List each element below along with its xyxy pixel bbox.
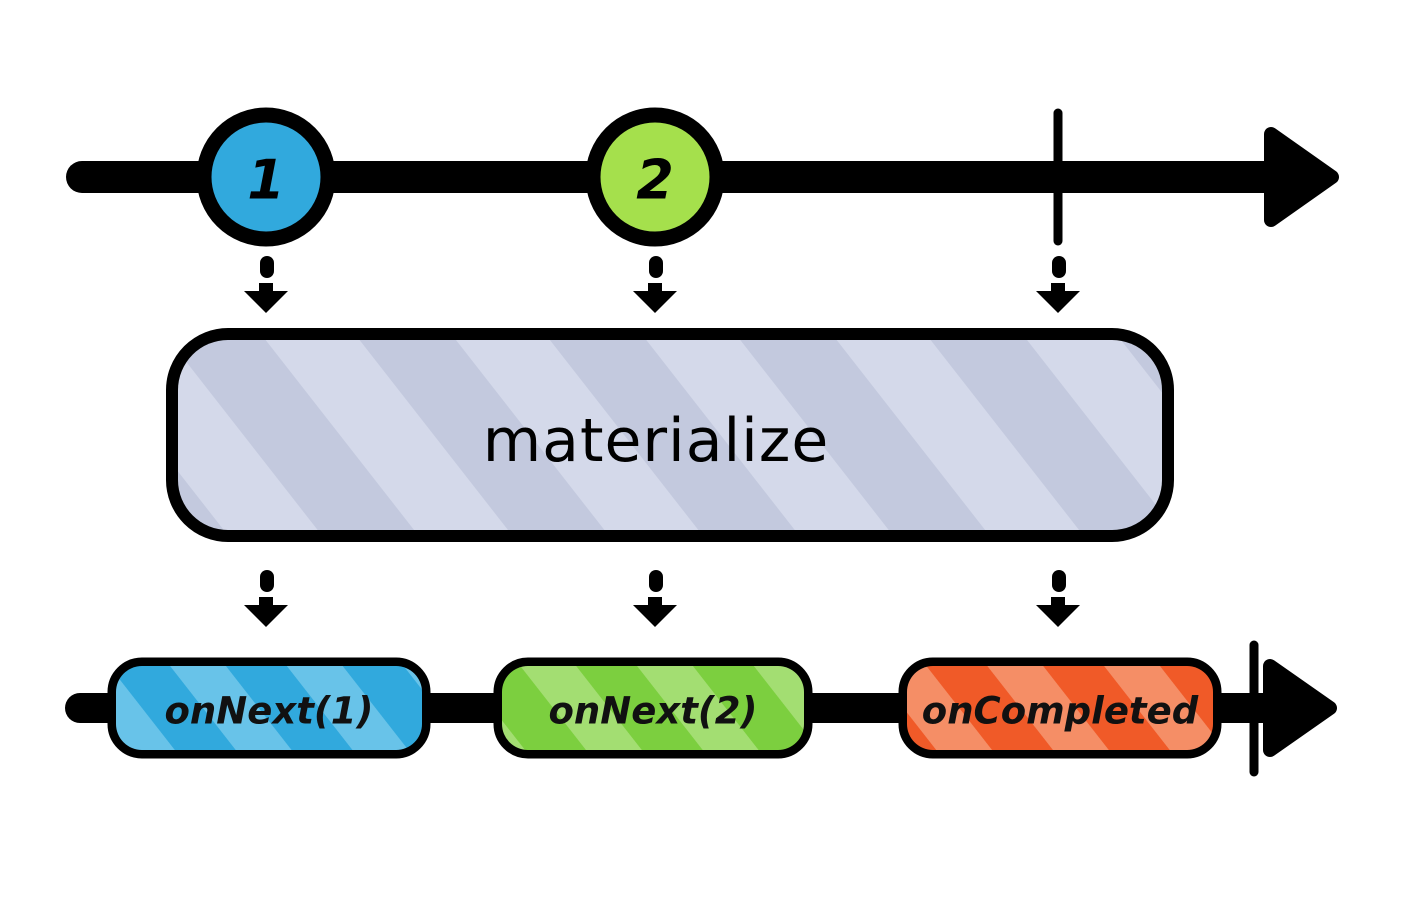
notification-onnext-1[interactable]: onNext(1) (116, 666, 422, 750)
connector-dash (260, 256, 274, 278)
connector-arrowhead (633, 283, 677, 313)
notification-oncompleted[interactable]: onCompleted (907, 666, 1213, 750)
connector-arrowhead (244, 597, 288, 627)
connector-arrow-out-2 (633, 570, 677, 627)
notification-onnext-2[interactable]: onNext(2) (502, 666, 804, 750)
connector-arrowhead (1036, 283, 1080, 313)
notification-label: onCompleted (922, 690, 1199, 733)
connector-arrowhead (1036, 597, 1080, 627)
notification-label: onNext(1) (165, 690, 374, 733)
operator-label: materialize (483, 406, 830, 476)
connector-dash (260, 570, 274, 592)
connectors-source-to-operator (244, 256, 1080, 313)
connector-arrow-out-complete (1036, 570, 1080, 627)
connector-arrowhead (244, 283, 288, 313)
connector-arrow-out-1 (244, 570, 288, 627)
connector-dash (649, 256, 663, 278)
diagram-svg: 1 2 mat (0, 0, 1401, 901)
marble-value: 1 (247, 149, 285, 212)
connector-dash (1052, 256, 1066, 278)
connectors-operator-to-result (244, 570, 1080, 627)
connector-arrow-2 (633, 256, 677, 313)
marble-value: 2 (636, 149, 674, 212)
connector-dash (1052, 570, 1066, 592)
source-marble-1[interactable]: 1 (204, 115, 328, 239)
connector-arrow-1 (244, 256, 288, 313)
connector-dash (649, 570, 663, 592)
source-timeline-arrowhead (1271, 134, 1332, 220)
source-marble-2[interactable]: 2 (593, 115, 717, 239)
operator-box[interactable]: materialize (178, 340, 1162, 530)
connector-arrowhead (633, 597, 677, 627)
notification-label: onNext(2) (549, 690, 758, 733)
connector-arrow-complete (1036, 256, 1080, 313)
result-timeline-arrowhead (1270, 666, 1330, 750)
marble-diagram-canvas: 1 2 mat (0, 0, 1401, 901)
